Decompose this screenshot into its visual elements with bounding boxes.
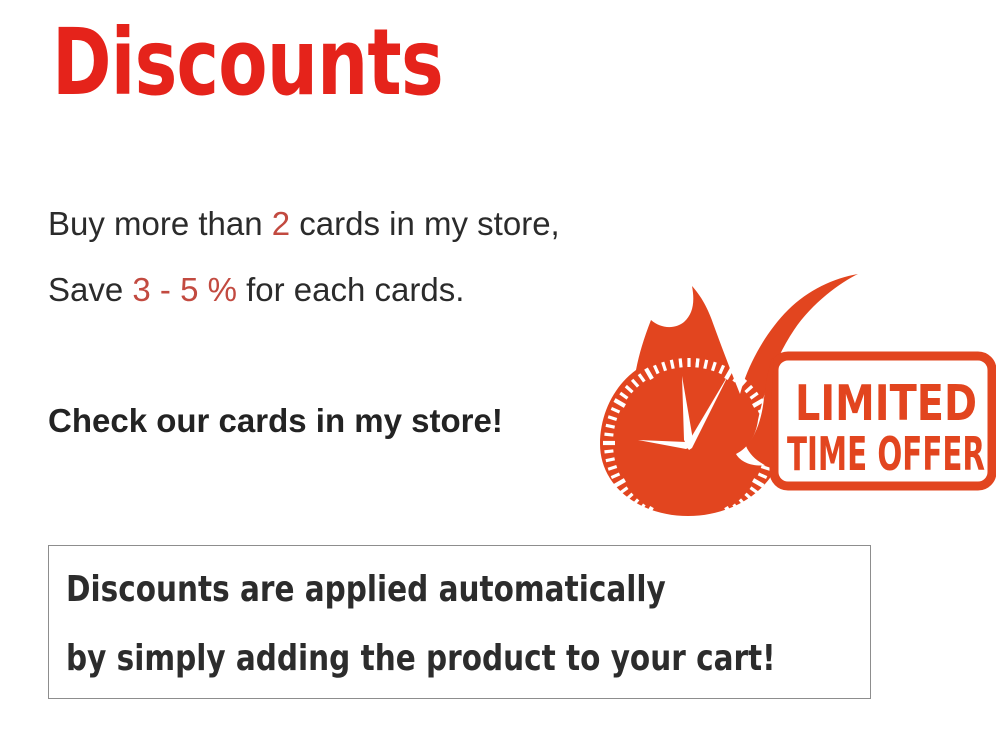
auto-discount-callout-box: Discounts are applied automatically by s… xyxy=(48,545,871,699)
callout-line-2: by simply adding the product to your car… xyxy=(66,641,776,677)
badge-line-2: TIME OFFER xyxy=(787,427,985,481)
offer-line-1-prefix: Buy more than xyxy=(48,205,272,242)
callout-line-1: Discounts are applied automatically xyxy=(66,572,666,608)
promo-banner: Discounts Buy more than 2 cards in my st… xyxy=(0,0,1000,755)
badge-line-1: LIMITED xyxy=(795,375,977,432)
offer-line-1-suffix: cards in my store, xyxy=(290,205,560,242)
offer-line-2-suffix: for each cards. xyxy=(237,271,464,308)
store-cta-text: Check our cards in my store! xyxy=(48,404,503,437)
offer-line-2: Save 3 - 5 % for each cards. xyxy=(48,273,464,306)
page-title: Discounts xyxy=(52,17,443,109)
offer-line-1: Buy more than 2 cards in my store, xyxy=(48,207,560,240)
offer-line-1-highlight: 2 xyxy=(272,205,290,242)
limited-time-offer-graphic: LIMITED TIME OFFER xyxy=(596,268,996,518)
offer-line-2-prefix: Save xyxy=(48,271,132,308)
offer-line-2-highlight: 3 - 5 % xyxy=(132,271,237,308)
